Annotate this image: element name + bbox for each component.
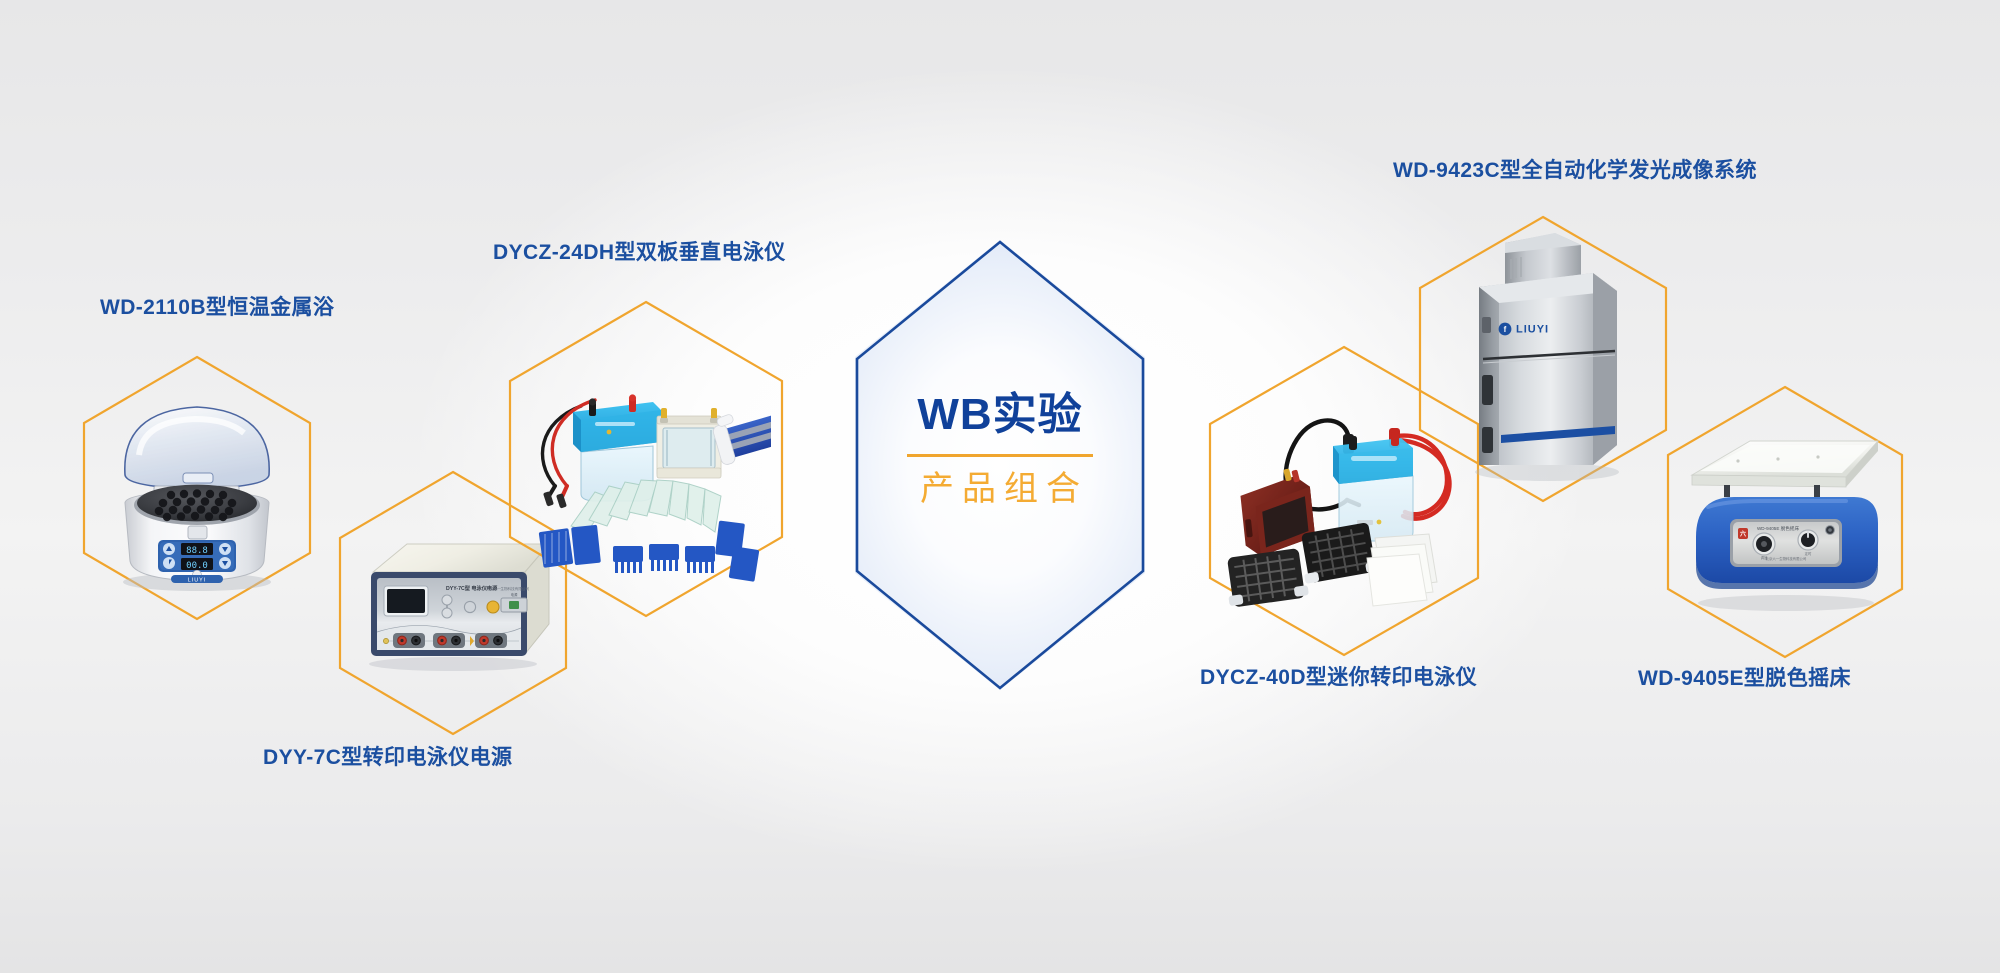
center-text-block: WB实验 产品组合 [855,392,1145,509]
product-node-shaker[interactable]: 六 WD-9405E 脱色摇床 北京六一生物科技有限公司 调速 定时 WD-94… [1666,385,1904,659]
device-vertical-electrophoresis [508,300,784,618]
label-shaker: WD-9405E型脱色摇床 [1638,668,1851,689]
center-hexagon: WB实验 产品组合 [855,240,1145,690]
label-mini-transfer: DYCZ-40D型迷你转印电泳仪 [1200,667,1477,688]
shaker-knob-right-label: 定时 [1805,551,1812,556]
shaker-panel-sub: 北京六一生物科技有限公司 [1766,556,1807,561]
center-subtitle: 产品组合 [855,471,1145,508]
metal-bath-display-bottom: 00.0 [186,561,208,571]
product-node-chemi-imager[interactable]: f LIUYI WD-9423C型全自动化学发光成像系统 [1418,215,1668,503]
label-power-supply: DYY-7C型转印电泳仪电源 [263,747,512,768]
product-node-vertical-electrophoresis[interactable]: DYCZ-24DH型双板垂直电泳仪 [508,300,784,618]
label-metal-bath: WD-2110B型恒温金属浴 [100,297,334,318]
device-chemi-imager: f LIUYI [1418,215,1668,503]
label-chemi-imager: WD-9423C型全自动化学发光成像系统 [1393,160,1757,181]
label-vertical-electrophoresis: DYCZ-24DH型双板垂直电泳仪 [493,242,786,263]
center-title: WB实验 [855,392,1145,438]
device-metal-bath: 88.8 00.0 LIUYI [82,355,312,621]
shaker-knob-left-label: 调速 [1761,555,1768,560]
svg-text:f: f [1504,325,1507,334]
device-shaker: 六 WD-9405E 脱色摇床 北京六一生物科技有限公司 调速 定时 [1666,385,1904,659]
chemi-imager-brand: LIUYI [1516,324,1549,336]
center-divider [907,454,1093,457]
poster-canvas: WB实验 产品组合 [0,0,2000,973]
svg-text:六: 六 [1740,530,1746,538]
metal-bath-display-top: 88.8 [186,546,208,556]
product-node-metal-bath[interactable]: 88.8 00.0 LIUYI WD-2110B型恒温金属浴 [82,355,312,621]
metal-bath-brand: LIUYI [188,578,206,584]
shaker-panel-title: WD-9405E 脱色摇床 [1757,525,1800,532]
